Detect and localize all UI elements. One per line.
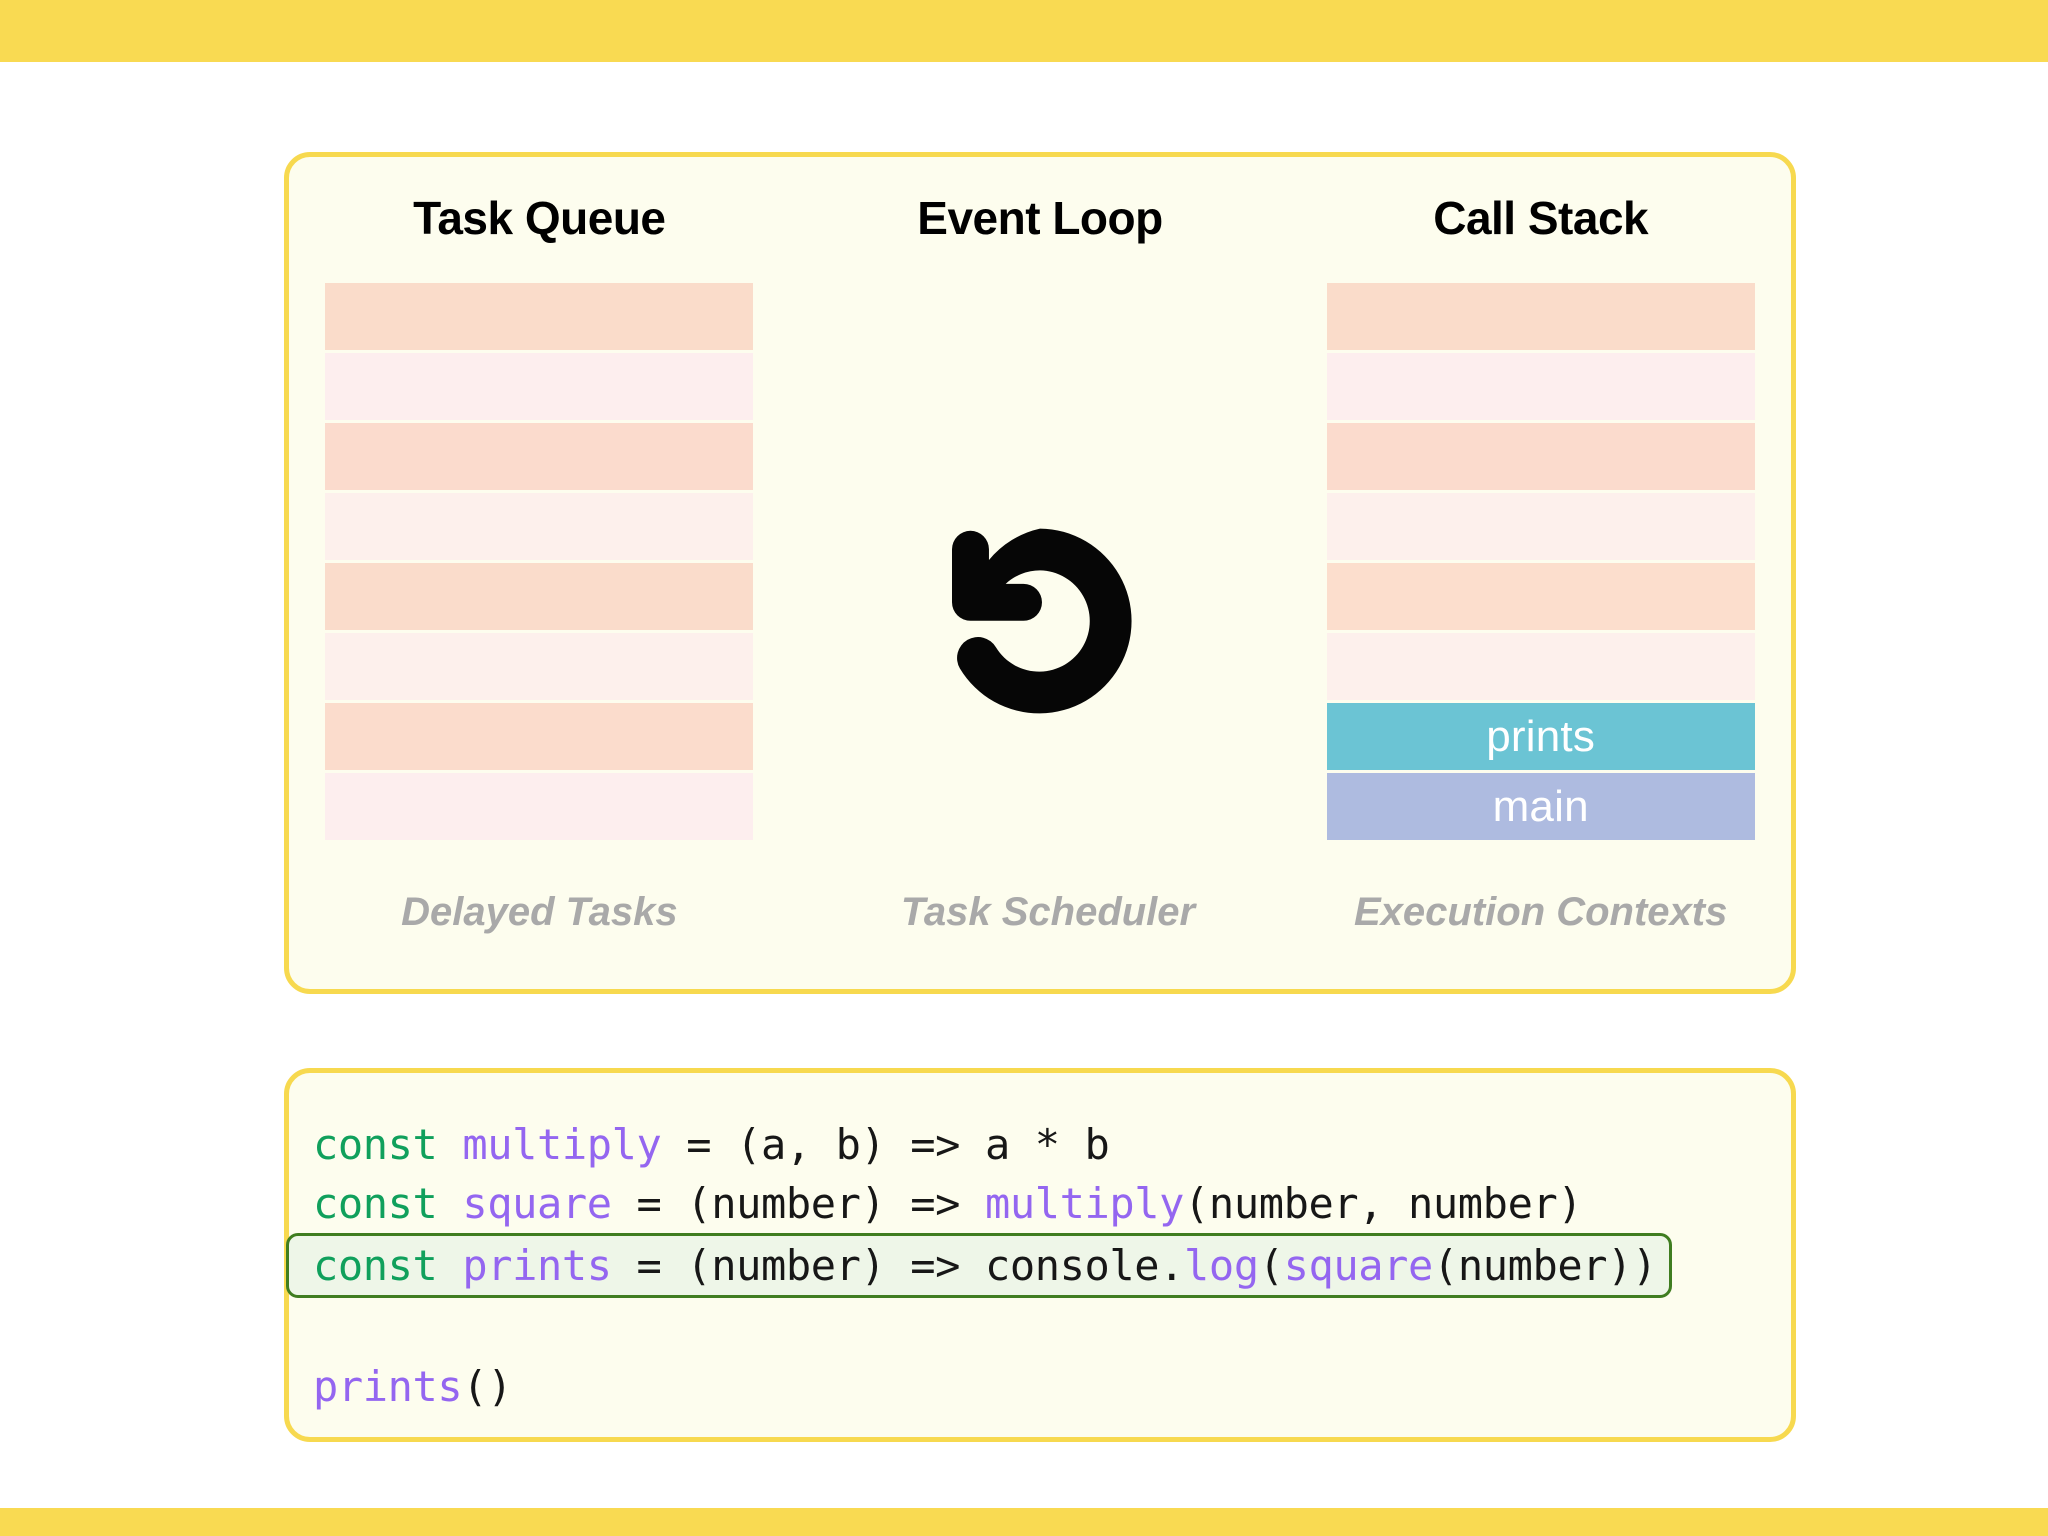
code-token-pl: ( xyxy=(1259,1241,1284,1290)
event-loop-caption: Task Scheduler xyxy=(798,890,1299,935)
code-token-fn: multiply xyxy=(985,1179,1184,1228)
code-line-wrapper: const square = (number) => multiply(numb… xyxy=(289,1174,1791,1233)
call-stack-title: Call Stack xyxy=(1433,195,1648,241)
column-task-queue: Task Queue Delayed Tasks xyxy=(289,157,790,989)
code-line-wrapper: const multiply = (a, b) => a * b xyxy=(289,1115,1791,1174)
stack-slot xyxy=(325,493,753,560)
stack-slot xyxy=(325,703,753,770)
task-queue-title: Task Queue xyxy=(413,195,665,241)
code-token-kw: const xyxy=(313,1241,462,1290)
code-token-fn: prints xyxy=(313,1362,462,1411)
event-loop-title: Event Loop xyxy=(917,195,1162,241)
stack-slot xyxy=(325,283,753,350)
code-token-pl: () xyxy=(462,1362,512,1411)
stack-slot xyxy=(325,633,753,700)
code-line: const square = (number) => multiply(numb… xyxy=(289,1174,1791,1233)
code-line-wrapper xyxy=(289,1298,1791,1357)
code-token-kw: const xyxy=(313,1179,462,1228)
top-accent-band xyxy=(0,0,2048,62)
code-block: const multiply = (a, b) => a * bconst sq… xyxy=(289,1073,1791,1416)
stack-frame-label: main xyxy=(1327,773,1755,840)
code-line-wrapper: prints() xyxy=(289,1357,1791,1416)
bottom-accent-band xyxy=(0,1508,2048,1536)
stack-slot xyxy=(1327,353,1755,420)
code-token-fn: multiply xyxy=(462,1120,661,1169)
code-token-fn: prints xyxy=(462,1241,611,1290)
code-token-fn: square xyxy=(462,1179,611,1228)
code-line: prints() xyxy=(289,1357,1791,1416)
stack-frame-prints: prints xyxy=(1327,703,1755,770)
code-token-fn: log xyxy=(1184,1241,1259,1290)
code-token-pl: (number, number) xyxy=(1184,1179,1582,1228)
stack-frame-main: main xyxy=(1327,773,1755,840)
code-line-wrapper: const prints = (number) => console.log(s… xyxy=(289,1233,1791,1298)
task-queue-bars xyxy=(325,283,753,840)
code-token-pl: = (number) => xyxy=(612,1179,985,1228)
event-loop-diagram-panel: Task Queue Delayed Tasks Event Loop Task… xyxy=(284,152,1796,994)
stack-slot xyxy=(1327,493,1755,560)
code-line-highlighted: const prints = (number) => console.log(s… xyxy=(286,1233,1672,1298)
stack-slot xyxy=(325,423,753,490)
stack-slot xyxy=(325,353,753,420)
code-token-fn: square xyxy=(1284,1241,1433,1290)
task-queue-caption: Delayed Tasks xyxy=(289,890,790,935)
code-line xyxy=(289,1298,1791,1357)
code-token-kw: const xyxy=(313,1120,462,1169)
stack-slot xyxy=(1327,633,1755,700)
stack-slot xyxy=(1327,423,1755,490)
column-event-loop: Event Loop Task Scheduler xyxy=(790,157,1291,989)
code-token-pl: = (a, b) => a * b xyxy=(661,1120,1109,1169)
code-token-pl xyxy=(313,1303,338,1352)
call-stack-bars: printsmain xyxy=(1327,283,1755,840)
stack-slot xyxy=(1327,283,1755,350)
stack-slot xyxy=(325,563,753,630)
stack-slot xyxy=(1327,563,1755,630)
code-token-pl: (number)) xyxy=(1433,1241,1657,1290)
rotate-counterclockwise-icon xyxy=(930,511,1150,731)
column-call-stack: Call Stack printsmain Execution Contexts xyxy=(1290,157,1791,989)
diagram-columns: Task Queue Delayed Tasks Event Loop Task… xyxy=(289,157,1791,989)
code-token-pl: = (number) => console. xyxy=(612,1241,1184,1290)
stack-slot xyxy=(325,773,753,840)
event-loop-icon-wrap xyxy=(790,253,1291,989)
call-stack-caption: Execution Contexts xyxy=(1290,890,1791,935)
code-snippet-panel: const multiply = (a, b) => a * bconst sq… xyxy=(284,1068,1796,1442)
stack-frame-label: prints xyxy=(1327,703,1755,770)
code-line: const multiply = (a, b) => a * b xyxy=(289,1115,1791,1174)
